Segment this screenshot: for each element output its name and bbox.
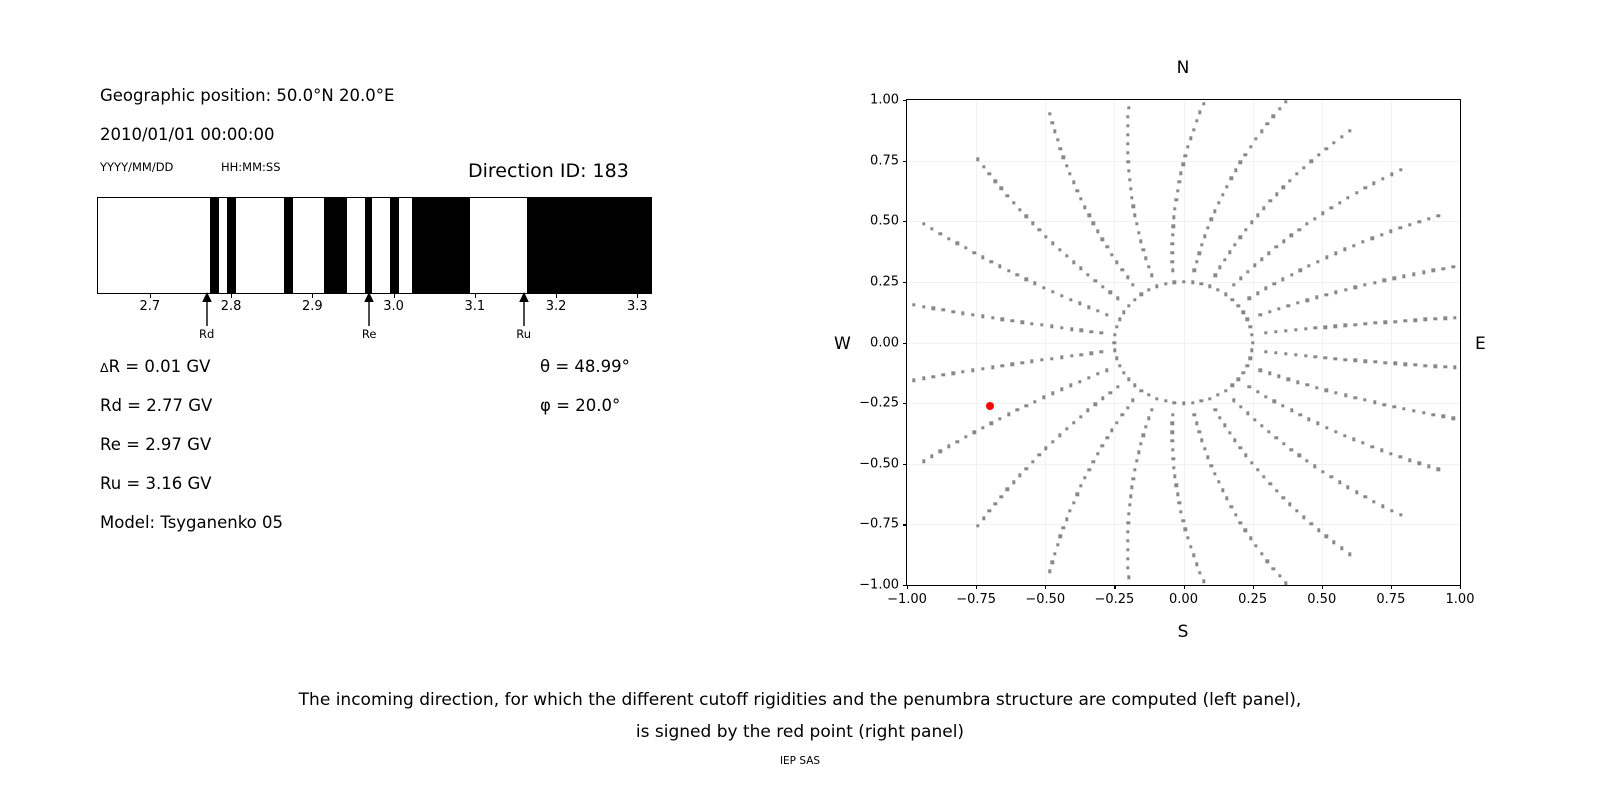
direction-dot	[1383, 403, 1386, 406]
direction-dot	[1006, 194, 1009, 197]
direction-dot	[951, 310, 954, 313]
penumbra-forbidden-band	[390, 198, 399, 293]
direction-dot	[1324, 147, 1327, 150]
direction-dot	[1147, 288, 1150, 291]
direction-dot	[1176, 189, 1179, 192]
direction-dot	[942, 308, 945, 311]
direction-dot	[1306, 298, 1309, 301]
caption-line-2: is signed by the red point (right panel)	[0, 716, 1600, 748]
direction-dot	[1260, 258, 1263, 261]
direction-dot	[1307, 417, 1310, 420]
direction-dot	[1352, 244, 1355, 247]
direction-dot	[1254, 137, 1257, 140]
direction-dot	[1030, 360, 1033, 363]
direction-dot	[1040, 323, 1043, 326]
delta-r-value: R = 0.01 GV	[109, 357, 211, 376]
sky-y-tick	[903, 585, 907, 586]
direction-dot	[1413, 363, 1416, 366]
direction-dot	[1115, 325, 1118, 328]
direction-dot	[1096, 372, 1099, 375]
direction-dot	[1118, 318, 1121, 321]
direction-dot	[1305, 459, 1308, 462]
direction-dot	[1131, 283, 1134, 286]
direction-dot	[1173, 475, 1176, 478]
direction-dot	[1044, 447, 1047, 450]
direction-dot	[1216, 288, 1219, 291]
direction-dot	[1237, 304, 1240, 307]
sky-x-tick	[1322, 585, 1323, 589]
penumbra-forbidden-band	[324, 198, 348, 293]
direction-dot	[1373, 281, 1376, 284]
direction-dot	[1325, 293, 1328, 296]
direction-dot	[1275, 245, 1278, 248]
direction-dot	[1126, 115, 1129, 118]
direction-dot	[1403, 362, 1406, 365]
direction-dot	[1210, 464, 1213, 467]
direction-dot	[1060, 388, 1063, 391]
direction-dot	[1195, 260, 1198, 263]
direction-dot	[1246, 364, 1249, 367]
stat-phi: φ = 20.0°	[540, 396, 620, 415]
direction-dot	[1126, 548, 1129, 551]
direction-dot	[1197, 430, 1200, 433]
penumbra-axis-tick-label: 3.2	[546, 299, 567, 314]
sky-x-tick-label: −0.75	[956, 592, 996, 607]
direction-dot	[1208, 397, 1211, 400]
sky-x-tick-label: 0.00	[1169, 592, 1198, 607]
direction-dot	[1070, 354, 1073, 357]
direction-dot	[1451, 416, 1454, 419]
direction-dot	[1001, 364, 1004, 367]
direction-dot	[1173, 281, 1176, 284]
direction-dot	[1218, 266, 1221, 269]
rigidity-marker-label: Re	[362, 327, 377, 341]
sky-x-tick	[1045, 585, 1046, 589]
direction-dot	[1316, 260, 1319, 263]
direction-dot	[1198, 111, 1201, 114]
direction-dot	[1189, 136, 1192, 139]
direction-dot	[1273, 282, 1276, 285]
direction-dot	[1048, 112, 1051, 115]
direction-dot	[1181, 519, 1184, 522]
direction-dot	[1133, 468, 1136, 471]
direction-dot	[1173, 207, 1176, 210]
direction-dot	[964, 435, 967, 438]
direction-dot	[1172, 225, 1175, 228]
direction-dot	[976, 524, 979, 527]
direction-dot	[1126, 276, 1129, 279]
direction-dot	[1432, 413, 1435, 416]
direction-dot	[1173, 401, 1176, 404]
sky-plot-area	[906, 99, 1461, 586]
direction-dot	[981, 367, 984, 370]
direction-dot	[1053, 552, 1056, 555]
direction-dot	[1070, 327, 1073, 330]
direction-dot	[1223, 424, 1226, 427]
direction-dot	[1352, 438, 1355, 441]
direction-dot	[1314, 355, 1317, 358]
direction-dot	[1392, 405, 1395, 408]
direction-dot	[1325, 426, 1328, 429]
direction-dot	[1304, 327, 1307, 330]
direction-dot	[1432, 269, 1435, 272]
direction-dot	[1203, 447, 1206, 450]
penumbra-chart	[97, 197, 652, 294]
direction-dot	[1244, 228, 1247, 231]
direction-dot	[1096, 452, 1099, 455]
direction-dot	[1127, 512, 1130, 515]
rigidity-marker-label: Ru	[516, 327, 531, 341]
time-format-hint: HH:MM:SS	[221, 160, 281, 174]
direction-dot	[1006, 488, 1009, 491]
direction-dot	[1338, 201, 1341, 204]
direction-dot	[1072, 421, 1075, 424]
direction-dot	[1334, 357, 1337, 360]
direction-dot	[1363, 186, 1366, 189]
rigidity-marker-label: Rd	[199, 327, 214, 341]
direction-dot	[1195, 119, 1198, 122]
direction-dot	[1132, 205, 1135, 208]
penumbra-axis-tick-label: 2.7	[139, 299, 160, 314]
direction-dot	[1296, 301, 1299, 304]
direction-dot	[1087, 214, 1090, 217]
direction-dot	[981, 426, 984, 429]
direction-dot	[1334, 291, 1337, 294]
direction-dot	[1171, 251, 1174, 254]
direction-dot	[1087, 376, 1090, 379]
direction-dot	[1393, 320, 1396, 323]
direction-dot	[1031, 460, 1034, 463]
direction-dot	[1127, 169, 1130, 172]
direction-dot	[1282, 239, 1285, 242]
direction-dot	[1072, 261, 1075, 264]
direction-dot	[1210, 218, 1213, 221]
direction-dot	[1127, 160, 1130, 163]
direction-dot	[1361, 441, 1364, 444]
direction-dot	[1038, 228, 1041, 231]
direction-dot	[1200, 243, 1203, 246]
direction-dot	[1234, 169, 1237, 172]
direction-dot	[1363, 398, 1366, 401]
rigidity-marker-arrow	[358, 292, 380, 326]
direction-dot	[1363, 495, 1366, 498]
direction-dot	[1268, 482, 1271, 485]
direction-dot	[1267, 430, 1270, 433]
sky-y-tick	[903, 524, 907, 525]
stat-model: Model: Tsyganenko 05	[100, 513, 283, 532]
direction-dot	[1053, 130, 1056, 133]
direction-dot	[1051, 561, 1054, 564]
penumbra-forbidden-band	[527, 198, 652, 293]
direction-dot	[1171, 448, 1174, 451]
left-panel: Geographic position: 50.0°N 20.0°E 2010/…	[0, 0, 800, 680]
right-panel: N S W E −1.00−0.75−0.50−0.250.000.250.50…	[800, 0, 1600, 680]
direction-dot	[1363, 283, 1366, 286]
direction-dot	[1133, 384, 1136, 387]
direction-dot	[988, 509, 991, 512]
direction-dot	[1127, 304, 1130, 307]
direction-dot	[981, 256, 984, 259]
direction-dot	[1176, 492, 1179, 495]
sky-x-tick-label: −0.50	[1025, 592, 1065, 607]
direction-dot	[1033, 400, 1036, 403]
direction-dot	[1294, 353, 1297, 356]
direction-dot	[1260, 424, 1263, 427]
direction-dot	[1164, 282, 1167, 285]
direction-dot	[1249, 537, 1252, 540]
direction-dot	[955, 440, 958, 443]
direction-dot	[1296, 380, 1299, 383]
direction-dot	[1025, 278, 1028, 281]
direction-dot	[1203, 235, 1206, 238]
penumbra-forbidden-band	[227, 198, 236, 293]
direction-dot	[1260, 130, 1263, 133]
stat-re: Re = 2.97 GV	[100, 435, 211, 454]
direction-dot	[1135, 459, 1138, 462]
penumbra-axis-tick	[556, 294, 557, 298]
direction-dot	[1253, 264, 1256, 267]
direction-dot	[1011, 363, 1014, 366]
direction-dot	[1193, 413, 1196, 416]
direction-dot	[1217, 480, 1220, 483]
stat-rd: Rd = 2.77 GV	[100, 396, 212, 415]
direction-dot	[1127, 521, 1130, 524]
penumbra-forbidden-band	[210, 198, 219, 293]
selected-direction-marker[interactable]	[986, 402, 994, 410]
direction-dot	[1202, 580, 1205, 583]
direction-dot	[1317, 153, 1320, 156]
penumbra-x-axis: 2.72.82.93.03.13.23.3RdReRu	[97, 294, 652, 349]
direction-dot	[1399, 513, 1402, 516]
direction-dot	[1237, 378, 1240, 381]
direction-dot	[1389, 230, 1392, 233]
direction-dot	[1306, 383, 1309, 386]
direction-dot	[1042, 286, 1045, 289]
direction-dot	[1427, 465, 1430, 468]
direction-dot	[982, 165, 985, 168]
direction-dot	[1246, 318, 1249, 321]
direction-dot	[1171, 422, 1174, 425]
direction-dot	[1324, 356, 1327, 359]
direction-dot	[1206, 226, 1209, 229]
direction-dot	[1354, 359, 1357, 362]
direction-dot	[1127, 378, 1130, 381]
direction-dot	[1340, 547, 1343, 550]
direction-dot	[1256, 390, 1259, 393]
direction-dot	[1092, 222, 1095, 225]
direction-dot	[1278, 574, 1281, 577]
direction-dot	[1343, 248, 1346, 251]
direction-dot	[1048, 570, 1051, 573]
direction-dot	[1392, 277, 1395, 280]
direction-dot	[1442, 415, 1445, 418]
direction-dot	[1242, 371, 1245, 374]
direction-dot	[1171, 439, 1174, 442]
direction-dot	[1113, 341, 1116, 344]
direction-dot	[1191, 401, 1194, 404]
direction-dot	[991, 316, 994, 319]
direction-dot	[1229, 505, 1232, 508]
direction-dot	[1332, 541, 1335, 544]
direction-dot	[1116, 385, 1119, 388]
direction-dot	[1083, 476, 1086, 479]
direction-dot	[994, 180, 997, 183]
direction-dot	[1140, 389, 1143, 392]
direction-dot	[1418, 220, 1421, 223]
direction-dot	[1239, 235, 1242, 238]
direction-dot	[922, 459, 925, 462]
direction-dot	[1137, 231, 1140, 234]
direction-dot	[1380, 233, 1383, 236]
direction-dot	[1058, 248, 1061, 251]
direction-dot	[1364, 322, 1367, 325]
direction-dot	[1135, 222, 1138, 225]
direction-dot	[1172, 466, 1175, 469]
direction-dot	[1195, 562, 1198, 565]
direction-dot	[1172, 216, 1175, 219]
direction-dot	[1239, 446, 1242, 449]
direction-dot	[1246, 411, 1249, 414]
direction-dot	[1192, 554, 1195, 557]
direction-dot	[1355, 191, 1358, 194]
direction-dot	[1380, 449, 1383, 452]
direction-dot	[1364, 359, 1367, 362]
direction-dot	[1371, 237, 1374, 240]
direction-dot	[932, 375, 935, 378]
direction-dot	[1260, 552, 1263, 555]
direction-dot	[1012, 481, 1015, 484]
direction-dot	[1056, 543, 1059, 546]
direction-dot	[1020, 361, 1023, 364]
direction-dot	[1299, 268, 1302, 271]
direction-dot	[1060, 355, 1063, 358]
sky-x-tick	[1253, 585, 1254, 589]
direction-dot	[1025, 215, 1028, 218]
direction-dot	[1051, 440, 1054, 443]
direction-dot	[1217, 201, 1220, 204]
direction-dot	[1399, 226, 1402, 229]
sky-y-tick-label: 0.00	[845, 335, 899, 350]
direction-dot	[1275, 436, 1278, 439]
direction-dot	[1346, 486, 1349, 489]
direction-dot	[1315, 296, 1318, 299]
sky-x-tick-label: 0.50	[1307, 592, 1336, 607]
gridline-horizontal	[907, 343, 1460, 344]
direction-dot	[1264, 395, 1267, 398]
direction-dot	[1334, 325, 1337, 328]
direction-dot	[1078, 380, 1081, 383]
direction-dot	[1250, 461, 1253, 464]
direction-dot	[988, 172, 991, 175]
direction-dot	[1314, 326, 1317, 329]
direction-dot	[1094, 403, 1097, 406]
sky-y-tick	[903, 161, 907, 162]
sky-x-tick	[907, 585, 908, 589]
direction-dot	[1072, 181, 1075, 184]
direction-dot	[1213, 472, 1216, 475]
direction-dot	[991, 366, 994, 369]
direction-dot	[1200, 282, 1203, 285]
direction-dot	[1150, 408, 1153, 411]
direction-dot	[1025, 467, 1028, 470]
direction-dot	[1228, 250, 1231, 253]
direction-dot	[1086, 273, 1089, 276]
direction-dot	[1346, 196, 1349, 199]
compass-north-label: N	[1177, 58, 1190, 78]
penumbra-forbidden-band	[365, 198, 372, 293]
direction-dot	[1050, 357, 1053, 360]
penumbra-forbidden-band	[284, 198, 293, 293]
direction-dot	[1334, 252, 1337, 255]
direction-dot	[1127, 575, 1130, 578]
direction-dot	[1113, 349, 1116, 352]
direction-dot	[990, 422, 993, 425]
direction-dot	[1068, 509, 1071, 512]
direction-dot	[1239, 277, 1242, 280]
direction-dot	[1258, 369, 1261, 372]
direction-dot	[1079, 267, 1082, 270]
sky-y-tick	[903, 221, 907, 222]
direction-dot	[1297, 454, 1300, 457]
stat-delta-r: ΔR = 0.01 GV	[100, 357, 210, 376]
direction-dot	[1101, 444, 1104, 447]
penumbra-axis-tick-label: 3.0	[383, 299, 404, 314]
penumbra-axis-tick	[150, 294, 151, 298]
direction-dot	[1075, 492, 1078, 495]
direction-dot	[1371, 445, 1374, 448]
direction-dot	[1256, 214, 1259, 217]
direction-dot	[1020, 321, 1023, 324]
direction-dot	[1060, 294, 1063, 297]
direction-dot	[1354, 396, 1357, 399]
direction-dot	[1142, 248, 1145, 251]
direction-dot	[1273, 400, 1276, 403]
direction-dot	[1115, 356, 1118, 359]
direction-dot	[1422, 271, 1425, 274]
direction-dot	[1174, 198, 1177, 201]
direction-dot	[1264, 287, 1267, 290]
direction-dot	[1451, 265, 1454, 268]
direction-dot	[1275, 489, 1278, 492]
direction-dot	[1325, 389, 1328, 392]
direction-dot	[1126, 530, 1129, 533]
direction-dot	[1069, 298, 1072, 301]
direction-dot	[1132, 477, 1135, 480]
sky-y-tick-label: −1.00	[845, 578, 899, 593]
gridline-horizontal	[907, 524, 1460, 525]
sky-x-tick	[1391, 585, 1392, 589]
direction-dot	[1288, 503, 1291, 506]
direction-dot	[1059, 535, 1062, 538]
direction-dot	[1181, 163, 1184, 166]
direction-dot	[1295, 172, 1298, 175]
direction-dot	[1225, 497, 1228, 500]
direction-dot	[1343, 434, 1346, 437]
direction-dot	[1193, 269, 1196, 272]
direction-dot	[1012, 201, 1015, 204]
direction-dot	[922, 377, 925, 380]
direction-dot	[1224, 293, 1227, 296]
direction-dot	[947, 237, 950, 240]
direction-dot	[1266, 122, 1269, 125]
direction-dot	[1164, 399, 1167, 402]
direction-dot	[1214, 408, 1217, 411]
direction-dot	[1231, 384, 1234, 387]
direction-dot	[1334, 391, 1337, 394]
direction-dot	[1272, 567, 1275, 570]
direction-dot	[1206, 455, 1209, 458]
direction-dot	[1402, 407, 1405, 410]
